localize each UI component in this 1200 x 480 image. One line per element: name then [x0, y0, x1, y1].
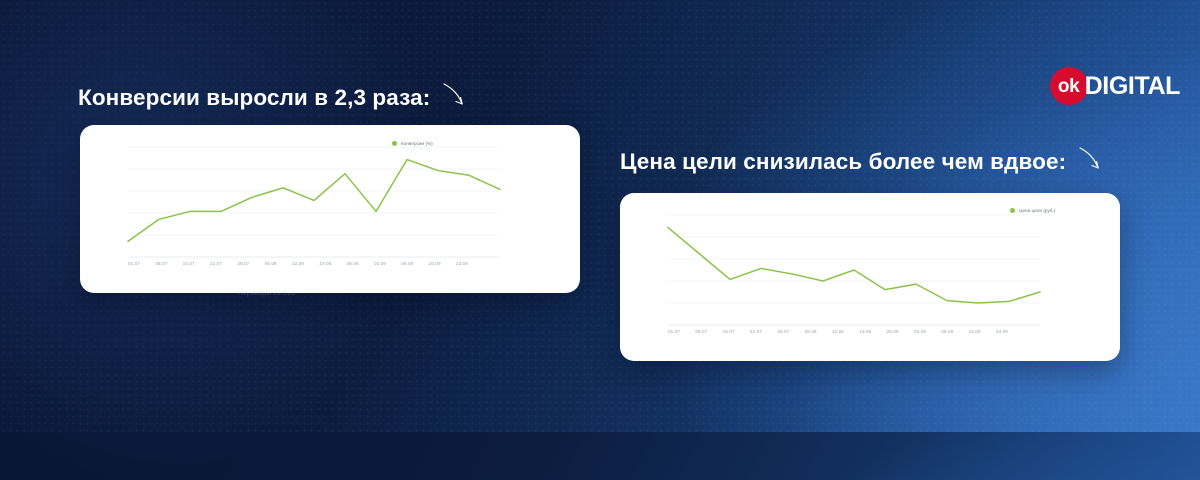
watermark-text: Переводы 22.593 [238, 290, 295, 297]
xaxis-tick-label: 01.07 [128, 261, 140, 266]
xaxis-tick-label: 26.08 [887, 329, 899, 334]
xaxis-tick-label: 22.07 [750, 329, 762, 334]
xaxis-tick-label: 15.07 [723, 329, 735, 334]
chart-plot-area-cost-per-goal [620, 193, 1120, 361]
chart-series-line [128, 160, 500, 242]
xaxis-tick-label: 02.09 [374, 261, 386, 266]
xaxis-tick-label: 08.07 [695, 329, 707, 334]
chart-legend-conversions: Конверсии (%) [392, 141, 433, 146]
legend-color-dot [1010, 208, 1015, 213]
headline-cost-per-goal-text: Цена цели снизилась более чем вдвое: [620, 149, 1066, 175]
xaxis-tick-label: 12.08 [832, 329, 844, 334]
curved-arrow-down-right-icon [1078, 144, 1104, 180]
xaxis-tick-label: 12.08 [292, 261, 304, 266]
xaxis-tick-label: 19.08 [859, 329, 871, 334]
headline-cost-per-goal: Цена цели снизилась более чем вдвое: [620, 144, 1104, 180]
line-chart-conversions [80, 125, 580, 293]
xaxis-tick-label: 22.07 [210, 261, 222, 266]
xaxis-tick-label: 23.09 [996, 329, 1008, 334]
xaxis-tick-label: 05.08 [265, 261, 277, 266]
line-chart-cost-per-goal [620, 193, 1120, 361]
brand-logo: ok DIGITAL [1050, 68, 1180, 104]
headline-conversions: Конверсии выросли в 2,3 раза: [78, 80, 468, 116]
xaxis-tick-label: 09.09 [401, 261, 413, 266]
xaxis-tick-label: 02.09 [914, 329, 926, 334]
xaxis-tick-label: 29.07 [777, 329, 789, 334]
xaxis-tick-label: 09.09 [941, 329, 953, 334]
legend-color-dot [392, 141, 397, 146]
xaxis-tick-label: 23.09 [456, 261, 468, 266]
chart-xaxis-conversions: 01.0708.0715.0722.0729.0705.0812.0819.08… [128, 261, 468, 266]
legend-label-cost-per-goal: Цена цели (руб.) [1019, 208, 1055, 213]
xaxis-tick-label: 08.07 [155, 261, 167, 266]
chart-legend-cost-per-goal: Цена цели (руб.) [1010, 208, 1055, 213]
xaxis-tick-label: 29.07 [237, 261, 249, 266]
headline-conversions-text: Конверсии выросли в 2,3 раза: [78, 85, 430, 111]
xaxis-tick-label: 26.08 [347, 261, 359, 266]
curved-arrow-down-right-icon [442, 80, 468, 116]
xaxis-tick-label: 16.09 [429, 261, 441, 266]
chart-series-line [668, 228, 1040, 303]
xaxis-tick-label: 19.08 [319, 261, 331, 266]
legend-label-conversions: Конверсии (%) [401, 141, 433, 146]
chart-plot-area-conversions [80, 125, 580, 293]
xaxis-tick-label: 16.09 [969, 329, 981, 334]
xaxis-tick-label: 15.07 [183, 261, 195, 266]
xaxis-tick-label: 01.07 [668, 329, 680, 334]
chart-xaxis-cost-per-goal: 01.0708.0715.0722.0729.0705.0812.0819.08… [668, 329, 1008, 334]
chart-card-conversions [80, 125, 580, 293]
logo-circle-badge: ok [1050, 67, 1088, 105]
chart-card-cost-per-goal [620, 193, 1120, 361]
logo-ok-text: ok [1058, 77, 1080, 96]
logo-digital-text: DIGITAL [1085, 74, 1180, 99]
xaxis-tick-label: 05.08 [805, 329, 817, 334]
